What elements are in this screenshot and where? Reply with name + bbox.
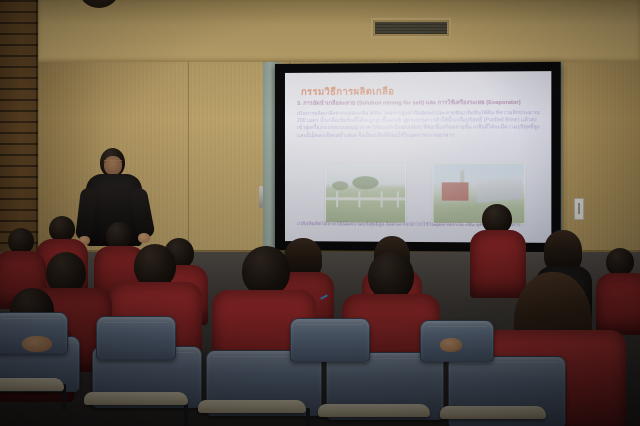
tablet-arm-desk[interactable]	[84, 392, 188, 405]
lecture-chair[interactable]	[290, 318, 370, 362]
brine-well-field-photo	[325, 163, 406, 224]
ceiling-vent-grille	[371, 18, 451, 38]
tablet-arm-desk[interactable]	[318, 404, 430, 417]
light-switch-plate[interactable]	[574, 198, 584, 220]
student-head	[242, 246, 290, 296]
presenter-face	[104, 156, 122, 175]
slide-title: กรรมวิธีการผลิตเกลือ	[301, 83, 543, 99]
tablet-arm-desk[interactable]	[440, 406, 546, 419]
tablet-arm-desk[interactable]	[198, 400, 306, 413]
student-hand	[22, 336, 52, 352]
chair-leg	[306, 408, 310, 426]
student-head	[368, 252, 414, 300]
upper-wall-band	[38, 0, 640, 62]
lecture-chair[interactable]	[96, 316, 176, 360]
tablet-arm-desk[interactable]	[0, 378, 64, 391]
slide-body-text: เป็นการผลิตเกลือจากแหล่งเกลือใต้ดิน โดยก…	[297, 110, 543, 157]
door-handle[interactable]	[259, 186, 263, 208]
student-hand	[440, 338, 462, 352]
classroom-photo-scene: กรรมวิธีการผลิตเกลือ 3. การอัดน้ำเกลือละ…	[0, 0, 640, 426]
slide-subtitle: 3. การอัดน้ำเกลือละลาย (Solution mining …	[297, 99, 545, 108]
